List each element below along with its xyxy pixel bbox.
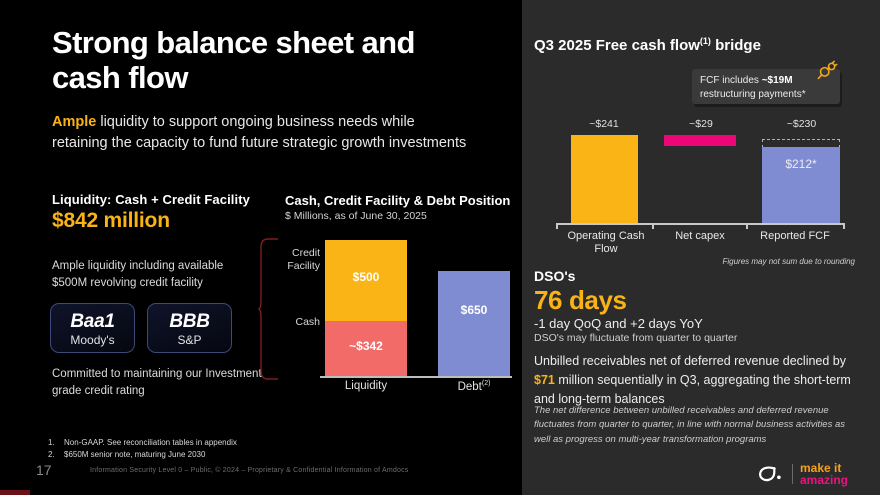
rating-value: Baa1	[70, 312, 114, 331]
footnote-text: $650M senior note, maturing June 2030	[64, 449, 205, 461]
dso-fluctuation-note: DSO's may fluctuate from quarter to quar…	[534, 332, 737, 344]
left-chart-title: Cash, Credit Facility & Debt Position	[285, 193, 515, 208]
logo-line-2: amazing	[800, 474, 848, 486]
slide: Strong balance sheet and cash flow Ample…	[0, 0, 880, 495]
fcf-bar-reported-fcf: $212*	[762, 147, 840, 223]
liquidity-value: $842 million	[52, 209, 292, 233]
fcf-axis-tick	[746, 223, 748, 229]
amdocs-logo: make it amazing	[757, 462, 848, 486]
fcf-value-label-ocf: ~$241	[556, 118, 652, 130]
left-chart-axis	[320, 376, 512, 378]
callout-pre: FCF includes	[700, 75, 762, 86]
fcf-xlabel-fcf: Reported FCF	[748, 230, 842, 243]
footnote-number: 1.	[48, 437, 58, 449]
right-title-main: Q3 2025 Free cash flow	[534, 37, 700, 54]
fcf-chart-axis	[556, 223, 844, 225]
left-chart-label-cash: Cash	[280, 316, 320, 329]
commitment-note: Committed to maintaining our Investment …	[52, 366, 262, 399]
bar-credit-facility: $500	[325, 240, 407, 321]
left-chart-label-credit-facility: Credit Facility	[280, 247, 320, 272]
unbilled-receivables-text: Unbilled receivables net of deferred rev…	[534, 352, 852, 408]
left-chart-subtitle: $ Millions, as of June 30, 2025	[285, 210, 515, 222]
rating-value: BBB	[169, 312, 209, 331]
fcf-bar-net-capex	[664, 135, 736, 146]
fcf-axis-tick	[843, 223, 845, 229]
rounding-note: Figures may not sum due to rounding	[690, 257, 855, 266]
fcf-xlabel-ocf: Operating Cash Flow	[561, 230, 651, 256]
dso-value: 76 days	[534, 285, 627, 316]
xlabel-debt-text: Debt	[458, 381, 482, 393]
brace-icon	[258, 238, 280, 380]
callout-post: restructuring payments*	[700, 89, 806, 100]
bar-label-cash: ~$342	[325, 339, 407, 353]
fcf-bar-operating-cash-flow	[571, 135, 638, 223]
rating-agency: Moody's	[70, 334, 114, 346]
logo-tagline: make it amazing	[800, 462, 848, 486]
left-chart-plot: ~$342 $500 $650	[325, 240, 510, 376]
bar-cash: ~$342	[325, 321, 407, 376]
rating-badge-sp: BBB S&P	[147, 303, 232, 353]
fcf-bar-inner-label: $212*	[762, 157, 840, 171]
right-title-tail: bridge	[711, 37, 761, 54]
footnote-text: Non-GAAP. See reconciliation tables in a…	[64, 437, 237, 449]
callout-bold: ~$19M	[762, 75, 793, 86]
unbilled-pre: Unbilled receivables net of deferred rev…	[534, 354, 846, 368]
information-security-notice: Information Security Level 0 – Public, ©…	[90, 467, 409, 474]
fcf-bridge-plot: ~$241 ~$29 ~$230 $212*	[556, 118, 856, 238]
liquidity-heading: Liquidity: Cash + Credit Facility	[52, 192, 262, 207]
dso-change: -1 day QoQ and +2 days YoY	[534, 316, 703, 331]
page-number: 17	[36, 462, 52, 478]
bar-label-credit-facility: $500	[325, 270, 407, 284]
fcf-value-label-fcf: ~$230	[754, 118, 849, 130]
fcf-axis-tick	[652, 223, 654, 229]
lede-paragraph: Ample liquidity to support ongoing busin…	[52, 112, 472, 154]
unbilled-highlight: $71	[534, 373, 555, 387]
page-title: Strong balance sheet and cash flow	[52, 26, 482, 95]
bar-label-debt: $650	[438, 303, 510, 317]
rating-agency: S&P	[177, 334, 201, 346]
right-title-footnote: (1)	[700, 36, 711, 46]
footnote-row: 1. Non-GAAP. See reconciliation tables i…	[48, 437, 378, 449]
bar-debt: $650	[438, 271, 510, 376]
logo-divider	[792, 464, 793, 484]
left-chart-xlabel-debt: Debt(2)	[438, 380, 510, 393]
fcf-xlabel-capex: Net capex	[656, 230, 744, 243]
rating-badge-moodys: Baa1 Moody's	[50, 303, 135, 353]
footnote-row: 2. $650M senior note, maturing June 2030	[48, 449, 378, 461]
left-chart-xlabel-liquidity: Liquidity	[325, 380, 407, 392]
lede-rest: liquidity to support ongoing business ne…	[52, 114, 466, 151]
liquidity-note: Ample liquidity including available $500…	[52, 258, 252, 291]
lede-highlight: Ample	[52, 114, 96, 130]
unbilled-post: million sequentially in Q3, aggregating …	[534, 373, 851, 406]
amdocs-mark-icon	[757, 463, 785, 485]
pushpin-icon	[816, 59, 838, 81]
credit-rating-badges: Baa1 Moody's BBB S&P	[50, 303, 232, 353]
dso-heading: DSO's	[534, 268, 575, 284]
fcf-axis-tick	[556, 223, 558, 229]
right-panel-title: Q3 2025 Free cash flow(1) bridge	[534, 36, 864, 54]
net-difference-note: The net difference between unbilled rece…	[534, 404, 852, 447]
fcf-value-label-capex: ~$29	[661, 118, 741, 130]
bottom-accent-strip	[0, 490, 30, 495]
footnotes: 1. Non-GAAP. See reconciliation tables i…	[48, 437, 378, 462]
footnote-number: 2.	[48, 449, 58, 461]
xlabel-debt-footnote: (2)	[482, 380, 491, 387]
